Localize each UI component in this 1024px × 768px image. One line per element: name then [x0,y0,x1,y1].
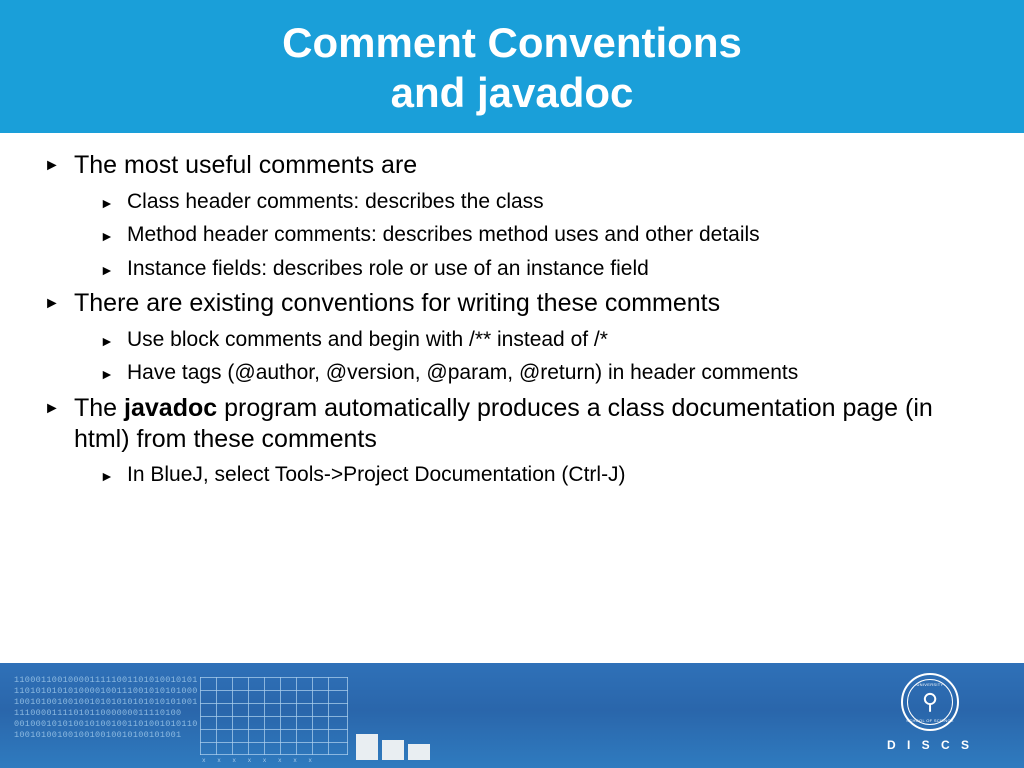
slide: Comment Conventions and javadoc ► The mo… [0,0,1024,768]
bullet-marker-icon: ► [100,360,127,381]
bullet-marker-icon: ► [100,222,127,243]
bullet-text: Instance fields: describes role or use o… [127,256,984,282]
bullet-level2: ► Method header comments: describes meth… [100,222,984,248]
university-seal-icon: UNIVERSITY ⚲ SCHOOL OF SCIENCE [901,673,959,731]
bar-chart-decoration [356,734,430,760]
bullet-marker-icon: ► [100,462,127,483]
bullet-marker-icon: ► [100,189,127,210]
slide-title-line-1: Comment Conventions [282,18,742,68]
seal-top-text: UNIVERSITY [903,682,957,687]
bullet-marker-icon: ► [44,288,74,312]
bullet-text-pre: The [74,394,124,422]
bullet-level2: ► Class header comments: describes the c… [100,189,984,215]
bullet-level1: ► There are existing conventions for wri… [44,288,984,319]
bullet-level1-javadoc: ► The javadoc program automatically prod… [44,393,984,454]
bullet-marker-icon: ► [100,256,127,277]
bullet-level2: ► In BlueJ, select Tools->Project Docume… [100,462,984,488]
bullet-level2: ► Use block comments and begin with /** … [100,327,984,353]
slide-title-line-2: and javadoc [391,68,634,118]
bar [382,740,404,760]
bullet-marker-icon: ► [44,393,74,417]
slide-body: ► The most useful comments are ► Class h… [0,133,1024,663]
bullet-marker-icon: ► [44,150,74,174]
slide-footer: 1100011001000011111001101010010101 11010… [0,663,1024,768]
bullet-text: Use block comments and begin with /** in… [127,327,984,353]
bullet-text: Have tags (@author, @version, @param, @r… [127,360,984,386]
bullet-level1: ► The most useful comments are [44,150,984,181]
seal-bottom-text: SCHOOL OF SCIENCE [903,718,957,723]
slide-title-banner: Comment Conventions and javadoc [0,0,1024,133]
bullet-text: The most useful comments are [74,150,984,181]
bullet-text: The javadoc program automatically produc… [74,393,984,454]
seal-emblem-icon: ⚲ [922,691,938,713]
bullet-marker-icon: ► [100,327,127,348]
brand-label: D I S C S [870,738,990,752]
bullet-level2: ► Have tags (@author, @version, @param, … [100,360,984,386]
bullet-level2: ► Instance fields: describes role or use… [100,256,984,282]
bar [356,734,378,760]
bullet-text: Method header comments: describes method… [127,222,984,248]
bar [408,744,430,760]
grid-chart-decoration [200,677,348,755]
institution-logo: UNIVERSITY ⚲ SCHOOL OF SCIENCE D I S C S [870,673,990,752]
bullet-text: Class header comments: describes the cla… [127,189,984,215]
grid-axis-label: x x x x x x x x [202,757,316,764]
bullet-text-emphasis: javadoc [124,394,217,422]
bullet-text: There are existing conventions for writi… [74,288,984,319]
bullet-text: In BlueJ, select Tools->Project Document… [127,462,984,488]
